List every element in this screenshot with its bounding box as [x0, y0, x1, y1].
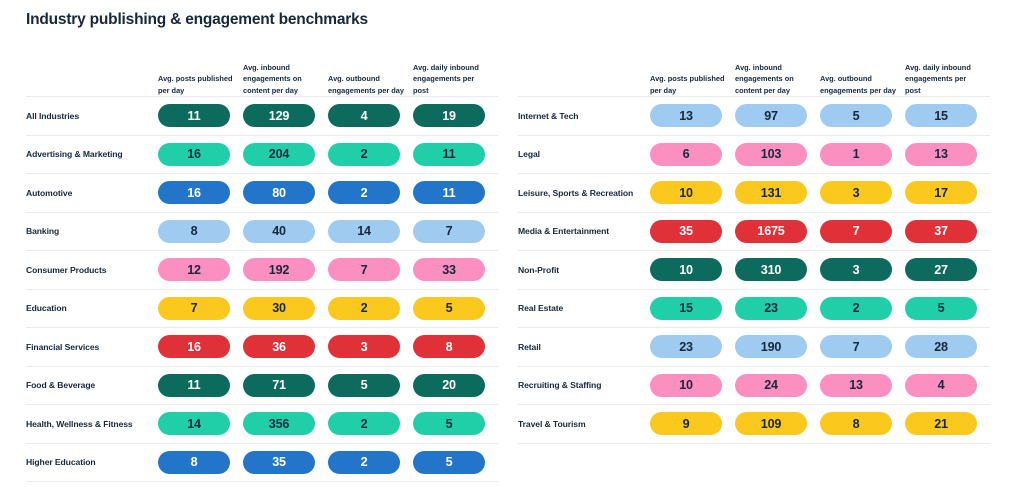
metric-cell: 5: [328, 374, 413, 397]
metric-cell: 1: [820, 143, 905, 166]
table-row: Legal6103113: [518, 135, 990, 174]
metric-cell: 13: [820, 374, 905, 397]
metric-pill: 11: [158, 374, 230, 397]
metric-pill: 36: [243, 335, 315, 358]
metric-pill: 24: [735, 374, 807, 397]
metric-pill: 14: [158, 412, 230, 435]
row-label-industry: Leisure, Sports & Recreation: [518, 188, 650, 198]
metric-cell: 16: [158, 181, 243, 204]
row-label-industry: Internet & Tech: [518, 111, 650, 121]
row-label-industry: Higher Education: [26, 457, 158, 467]
metric-cell: 80: [243, 181, 328, 204]
metric-pill: 3: [328, 335, 400, 358]
metric-pill: 131: [735, 181, 807, 204]
metric-cell: 17: [905, 181, 990, 204]
row-label-industry: Recruiting & Staffing: [518, 380, 650, 390]
metric-pill: 5: [413, 297, 485, 320]
metric-pill: 2: [328, 412, 400, 435]
metric-cell: 5: [413, 297, 498, 320]
metric-pill: 13: [650, 104, 722, 127]
metric-cell: 20: [413, 374, 498, 397]
row-label-industry: Retail: [518, 342, 650, 352]
metric-pill: 7: [413, 220, 485, 243]
metric-pill: 2: [328, 297, 400, 320]
metric-cell: 11: [158, 374, 243, 397]
table-row: Advertising & Marketing16204211: [26, 135, 498, 174]
metric-pill: 11: [413, 181, 485, 204]
metric-pill: 7: [820, 220, 892, 243]
table-row: Financial Services163638: [26, 327, 498, 366]
table-row: Education73025: [26, 289, 498, 328]
metric-cell: 1675: [735, 220, 820, 243]
table-body-left: All Industries11129419Advertising & Mark…: [26, 96, 498, 482]
metric-cell: 204: [243, 143, 328, 166]
table-row: Recruiting & Staffing1024134: [518, 366, 990, 405]
metric-cell: 35: [650, 220, 735, 243]
metric-cell: 7: [328, 258, 413, 281]
benchmarks-table-left: Avg. posts published per day Avg. inboun…: [26, 52, 498, 482]
metric-pill: 10: [650, 374, 722, 397]
metric-pill: 10: [650, 258, 722, 281]
table-body-right: Internet & Tech1397515Legal6103113Leisur…: [518, 96, 990, 444]
row-label-industry: Consumer Products: [26, 265, 158, 275]
metric-cell: 4: [905, 374, 990, 397]
metric-pill: 14: [328, 220, 400, 243]
row-label-industry: Travel & Tourism: [518, 419, 650, 429]
table-row: All Industries11129419: [26, 96, 498, 135]
metric-cell: 4: [328, 104, 413, 127]
table-row: Internet & Tech1397515: [518, 96, 990, 135]
metric-pill: 30: [243, 297, 315, 320]
metric-cell: 14: [158, 412, 243, 435]
metric-pill: 1: [820, 143, 892, 166]
metric-pill: 20: [413, 374, 485, 397]
metric-pill: 310: [735, 258, 807, 281]
metric-cell: 5: [413, 412, 498, 435]
column-header-avg-posts-published-per-day: Avg. posts published per day: [158, 73, 243, 96]
row-label-industry: Advertising & Marketing: [26, 149, 158, 159]
metric-pill: 2: [328, 181, 400, 204]
column-header-avg-outbound-engagements-per-day: Avg. outbound engagements per day: [328, 73, 413, 96]
table-row: Consumer Products12192733: [26, 250, 498, 289]
metric-pill: 71: [243, 374, 315, 397]
metric-pill: 5: [820, 104, 892, 127]
metric-cell: 33: [413, 258, 498, 281]
metric-pill: 97: [735, 104, 807, 127]
row-label-industry: Financial Services: [26, 342, 158, 352]
row-label-industry: Food & Beverage: [26, 380, 158, 390]
metric-cell: 5: [413, 451, 498, 474]
metric-cell: 5: [820, 104, 905, 127]
metric-pill: 40: [243, 220, 315, 243]
metric-pill: 13: [820, 374, 892, 397]
column-header-avg-daily-inbound-engagements-per-post: Avg. daily inbound engagements per post: [905, 62, 990, 96]
metric-pill: 23: [650, 335, 722, 358]
table-row: Travel & Tourism9109821: [518, 404, 990, 444]
metric-pill: 190: [735, 335, 807, 358]
metric-pill: 35: [243, 451, 315, 474]
metric-pill: 5: [328, 374, 400, 397]
metric-cell: 11: [413, 143, 498, 166]
metric-pill: 11: [158, 104, 230, 127]
metric-pill: 204: [243, 143, 315, 166]
metric-cell: 24: [735, 374, 820, 397]
metric-cell: 11: [413, 181, 498, 204]
metric-pill: 10: [650, 181, 722, 204]
metric-pill: 8: [158, 451, 230, 474]
metric-pill: 192: [243, 258, 315, 281]
metric-cell: 10: [650, 374, 735, 397]
metric-cell: 5: [905, 297, 990, 320]
metric-cell: 109: [735, 412, 820, 435]
metric-pill: 5: [905, 297, 977, 320]
metric-cell: 103: [735, 143, 820, 166]
benchmarks-table-right: Avg. posts published per day Avg. inboun…: [518, 52, 990, 444]
metric-pill: 2: [328, 143, 400, 166]
metric-pill: 356: [243, 412, 315, 435]
metric-cell: 97: [735, 104, 820, 127]
metric-pill: 2: [820, 297, 892, 320]
metric-cell: 16: [158, 143, 243, 166]
metric-cell: 71: [243, 374, 328, 397]
table-row: Media & Entertainment351675737: [518, 212, 990, 251]
metric-pill: 12: [158, 258, 230, 281]
metric-pill: 35: [650, 220, 722, 243]
metric-pill: 5: [413, 412, 485, 435]
metric-cell: 40: [243, 220, 328, 243]
metric-cell: 21: [905, 412, 990, 435]
row-label-industry: Non-Profit: [518, 265, 650, 275]
metric-pill: 8: [158, 220, 230, 243]
metric-cell: 35: [243, 451, 328, 474]
metric-pill: 28: [905, 335, 977, 358]
metric-cell: 16: [158, 335, 243, 358]
metric-cell: 310: [735, 258, 820, 281]
metric-pill: 9: [650, 412, 722, 435]
row-label-industry: Automotive: [26, 188, 158, 198]
metric-cell: 7: [820, 220, 905, 243]
metric-cell: 27: [905, 258, 990, 281]
metric-pill: 16: [158, 335, 230, 358]
metric-pill: 8: [820, 412, 892, 435]
metric-cell: 13: [650, 104, 735, 127]
table-row: Higher Education83525: [26, 443, 498, 483]
table-row: Banking840147: [26, 212, 498, 251]
row-label-industry: Education: [26, 303, 158, 313]
metric-cell: 15: [905, 104, 990, 127]
column-header-avg-daily-inbound-engagements-per-post: Avg. daily inbound engagements per post: [413, 62, 498, 96]
metric-pill: 21: [905, 412, 977, 435]
metric-pill: 4: [328, 104, 400, 127]
metric-pill: 103: [735, 143, 807, 166]
table-header-row-right: Avg. posts published per day Avg. inboun…: [518, 52, 990, 96]
metric-pill: 3: [820, 258, 892, 281]
metric-cell: 2: [328, 143, 413, 166]
metric-pill: 6: [650, 143, 722, 166]
metric-pill: 5: [413, 451, 485, 474]
column-header-avg-outbound-engagements-per-day: Avg. outbound engagements per day: [820, 73, 905, 96]
table-header-row-left: Avg. posts published per day Avg. inboun…: [26, 52, 498, 96]
row-label-industry: Legal: [518, 149, 650, 159]
metric-cell: 192: [243, 258, 328, 281]
metric-pill: 15: [650, 297, 722, 320]
metric-cell: 10: [650, 258, 735, 281]
metric-cell: 6: [650, 143, 735, 166]
metric-cell: 28: [905, 335, 990, 358]
metric-pill: 17: [905, 181, 977, 204]
metric-cell: 3: [820, 181, 905, 204]
metric-cell: 2: [328, 181, 413, 204]
metric-pill: 37: [905, 220, 977, 243]
metric-pill: 13: [905, 143, 977, 166]
metric-cell: 3: [820, 258, 905, 281]
metric-pill: 4: [905, 374, 977, 397]
metric-pill: 16: [158, 143, 230, 166]
row-label-industry: All Industries: [26, 111, 158, 121]
metric-cell: 13: [905, 143, 990, 166]
metric-cell: 3: [328, 335, 413, 358]
metric-pill: 129: [243, 104, 315, 127]
metric-cell: 15: [650, 297, 735, 320]
table-row: Automotive1680211: [26, 173, 498, 212]
metric-cell: 129: [243, 104, 328, 127]
column-header-avg-inbound-engagements-on-content-per-day: Avg. inbound engagements on content per …: [243, 62, 328, 96]
page-title: Industry publishing & engagement benchma…: [26, 11, 368, 29]
table-row: Retail23190728: [518, 327, 990, 366]
metric-cell: 23: [735, 297, 820, 320]
metric-pill: 8: [413, 335, 485, 358]
table-row: Food & Beverage1171520: [26, 366, 498, 405]
table-row: Leisure, Sports & Recreation10131317: [518, 173, 990, 212]
metric-cell: 8: [820, 412, 905, 435]
column-header-avg-posts-published-per-day: Avg. posts published per day: [650, 73, 735, 96]
metric-pill: 7: [158, 297, 230, 320]
metric-pill: 109: [735, 412, 807, 435]
metric-cell: 36: [243, 335, 328, 358]
table-row: Non-Profit10310327: [518, 250, 990, 289]
column-header-avg-inbound-engagements-on-content-per-day: Avg. inbound engagements on content per …: [735, 62, 820, 96]
metric-cell: 356: [243, 412, 328, 435]
metric-cell: 7: [158, 297, 243, 320]
row-label-industry: Health, Wellness & Fitness: [26, 419, 158, 429]
metric-cell: 23: [650, 335, 735, 358]
metric-cell: 14: [328, 220, 413, 243]
row-label-industry: Media & Entertainment: [518, 226, 650, 236]
metric-pill: 16: [158, 181, 230, 204]
metric-cell: 7: [413, 220, 498, 243]
metric-pill: 80: [243, 181, 315, 204]
metric-cell: 30: [243, 297, 328, 320]
metric-pill: 1675: [735, 220, 807, 243]
metric-pill: 33: [413, 258, 485, 281]
metric-cell: 7: [820, 335, 905, 358]
metric-pill: 19: [413, 104, 485, 127]
metric-cell: 131: [735, 181, 820, 204]
metric-cell: 2: [328, 297, 413, 320]
metric-pill: 2: [328, 451, 400, 474]
metric-cell: 8: [158, 220, 243, 243]
metric-cell: 19: [413, 104, 498, 127]
metric-cell: 12: [158, 258, 243, 281]
metric-cell: 11: [158, 104, 243, 127]
metric-pill: 23: [735, 297, 807, 320]
metric-cell: 8: [158, 451, 243, 474]
metric-cell: 2: [820, 297, 905, 320]
metric-cell: 10: [650, 181, 735, 204]
metric-pill: 11: [413, 143, 485, 166]
metric-pill: 3: [820, 181, 892, 204]
metric-cell: 2: [328, 451, 413, 474]
metric-cell: 37: [905, 220, 990, 243]
metric-pill: 7: [820, 335, 892, 358]
row-label-industry: Real Estate: [518, 303, 650, 313]
metric-pill: 7: [328, 258, 400, 281]
table-row: Health, Wellness & Fitness1435625: [26, 404, 498, 443]
metric-pill: 27: [905, 258, 977, 281]
metric-cell: 9: [650, 412, 735, 435]
metric-cell: 190: [735, 335, 820, 358]
row-label-industry: Banking: [26, 226, 158, 236]
table-row: Real Estate152325: [518, 289, 990, 328]
metric-cell: 8: [413, 335, 498, 358]
metric-pill: 15: [905, 104, 977, 127]
metric-cell: 2: [328, 412, 413, 435]
